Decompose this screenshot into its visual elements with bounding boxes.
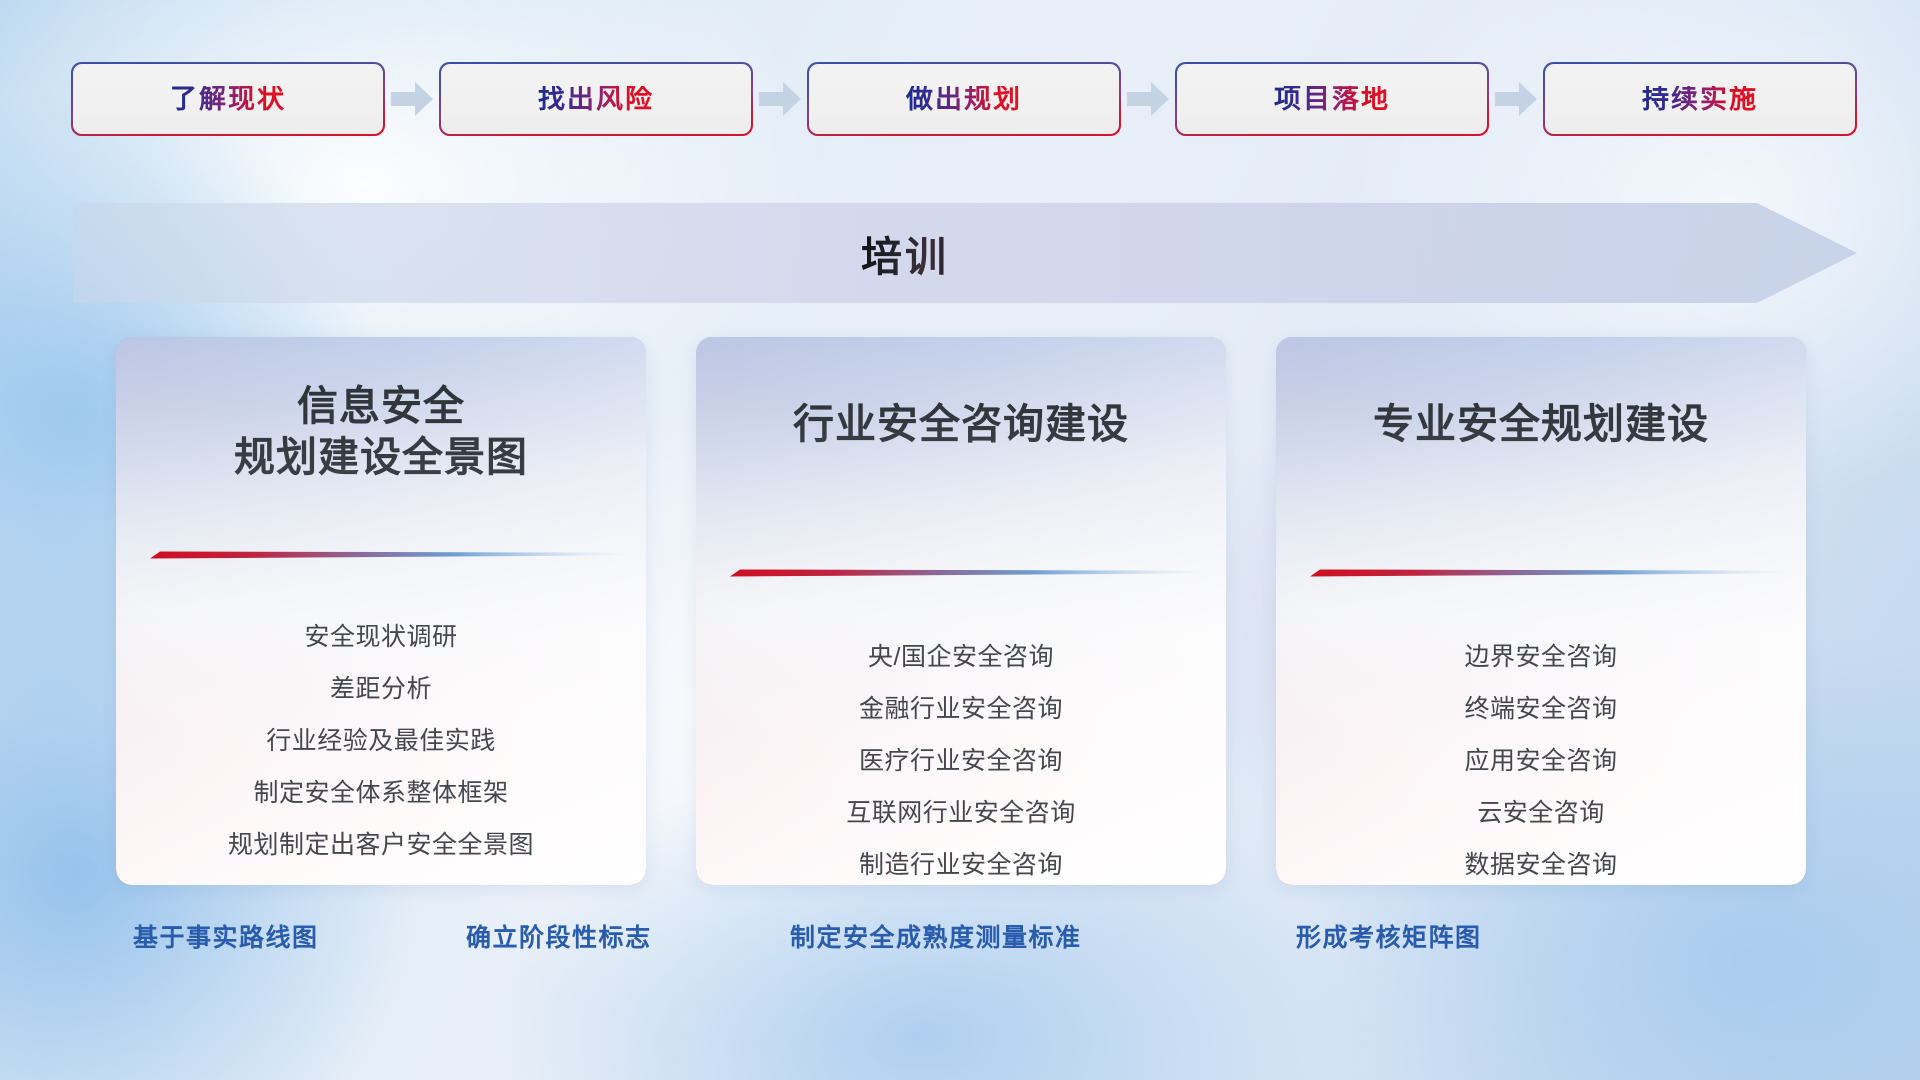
list-item: 金融行业安全咨询 (696, 697, 1226, 722)
right-block-arrow-icon (383, 64, 441, 134)
right-block-arrow-icon (751, 64, 809, 134)
process-step-5[interactable]: 持续实施 (1545, 64, 1855, 134)
right-block-arrow-icon (1119, 64, 1177, 134)
process-step-2[interactable]: 找出风险 (441, 64, 751, 134)
process-step-label: 项目落地 (1274, 86, 1390, 113)
list-item: 行业经验及最佳实践 (116, 729, 646, 754)
process-step-1[interactable]: 了解现状 (73, 64, 383, 134)
list-item: 终端安全咨询 (1276, 697, 1806, 722)
process-step-bar: 了解现状 找出风险 做出规划 项目落地 持续实施 (73, 64, 1847, 134)
list-item: 应用安全咨询 (1276, 749, 1806, 774)
list-item: 云安全咨询 (1276, 801, 1806, 826)
process-step-label: 了解现状 (170, 86, 286, 113)
list-item: 制造行业安全咨询 (696, 853, 1226, 878)
list-item: 制定安全体系整体框架 (116, 781, 646, 806)
card-group: 信息安全 规划建设全景图 (116, 337, 1806, 885)
caption-row: 基于事实路线图 确立阶段性标志 制定安全成熟度测量标准 形成考核矩阵图 (0, 918, 1920, 958)
list-item: 差距分析 (116, 677, 646, 702)
process-step-3[interactable]: 做出规划 (809, 64, 1119, 134)
card-title: 信息安全 规划建设全景图 (150, 381, 612, 483)
training-banner-label-wrap: 培训 (73, 203, 1857, 303)
process-step-label: 持续实施 (1642, 86, 1758, 113)
card-divider (730, 567, 1204, 579)
card-title: 行业安全咨询建设 (730, 399, 1192, 450)
list-item: 规划制定出客户安全全景图 (116, 833, 646, 858)
caption-roadmap: 基于事实路线图 (133, 918, 319, 954)
card-professional-planning[interactable]: 专业安全规划建设 (1276, 337, 1806, 885)
training-banner: 培训 (73, 203, 1857, 303)
caption-matrix: 形成考核矩阵图 (1296, 918, 1482, 954)
list-item: 互联网行业安全咨询 (696, 801, 1226, 826)
list-item: 安全现状调研 (116, 625, 646, 650)
right-block-arrow-icon (1487, 64, 1545, 134)
training-banner-label: 培训 (861, 223, 949, 283)
card-divider (1310, 567, 1784, 579)
card-divider (150, 549, 624, 561)
caption-milestone: 确立阶段性标志 (466, 918, 652, 954)
card-item-list: 边界安全咨询 终端安全咨询 应用安全咨询 云安全咨询 数据安全咨询 (1276, 645, 1806, 878)
list-item: 央/国企安全咨询 (696, 645, 1226, 670)
card-item-list: 央/国企安全咨询 金融行业安全咨询 医疗行业安全咨询 互联网行业安全咨询 制造行… (696, 645, 1226, 878)
caption-maturity: 制定安全成熟度测量标准 (790, 918, 1082, 954)
list-item: 医疗行业安全咨询 (696, 749, 1226, 774)
card-security-blueprint[interactable]: 信息安全 规划建设全景图 (116, 337, 646, 885)
card-industry-consulting[interactable]: 行业安全咨询建设 (696, 337, 1226, 885)
process-step-4[interactable]: 项目落地 (1177, 64, 1487, 134)
list-item: 边界安全咨询 (1276, 645, 1806, 670)
list-item: 数据安全咨询 (1276, 853, 1806, 878)
card-item-list: 安全现状调研 差距分析 行业经验及最佳实践 制定安全体系整体框架 规划制定出客户… (116, 625, 646, 858)
card-title: 专业安全规划建设 (1310, 399, 1772, 450)
process-step-label: 找出风险 (538, 86, 654, 113)
process-step-label: 做出规划 (906, 86, 1022, 113)
